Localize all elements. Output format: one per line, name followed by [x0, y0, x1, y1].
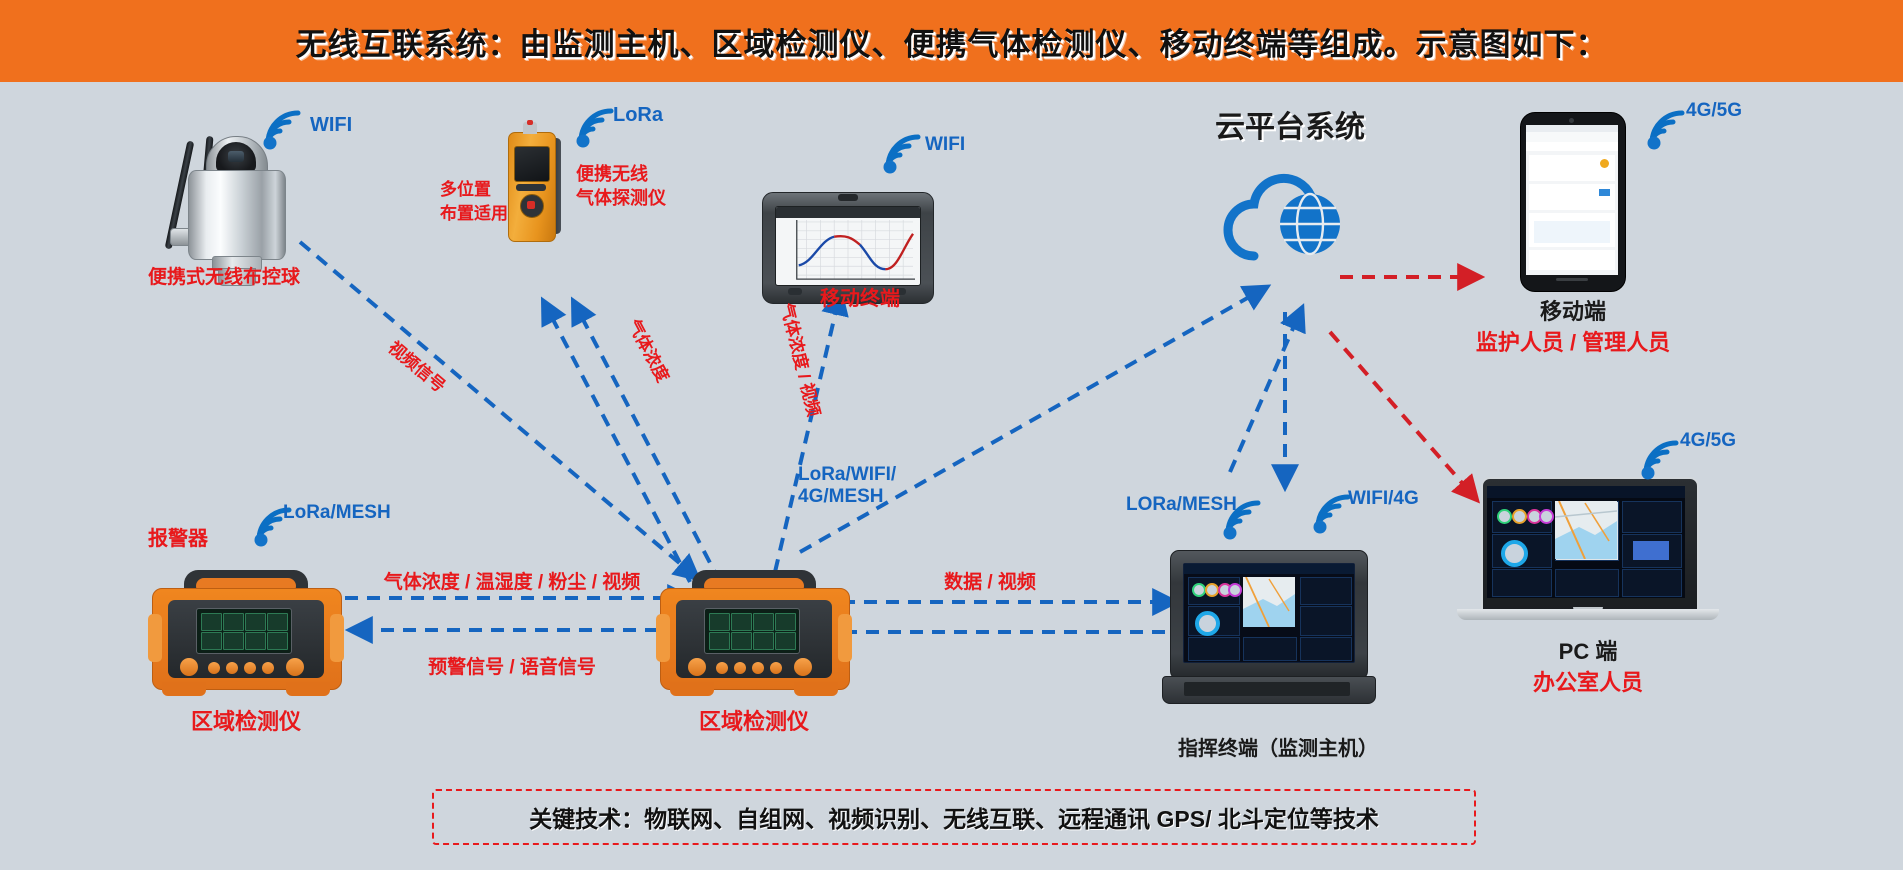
page-title: 无线互联系统：由监测主机、区域检测仪、便携气体检测仪、移动终端等组成。示意图如下… — [296, 19, 1608, 64]
globe-icon — [1280, 194, 1340, 254]
ct-donut-chart — [1195, 611, 1220, 636]
display-cell — [709, 632, 730, 650]
display-cell — [223, 613, 244, 631]
detector-button[interactable] — [244, 662, 256, 674]
pc-donut-chart — [1501, 540, 1528, 567]
display-cell — [201, 613, 222, 631]
detector-button[interactable] — [752, 662, 764, 674]
phone-screen — [1526, 125, 1618, 275]
command-terminal-signal-left: LORa/MESH — [1126, 494, 1237, 516]
wifi-signal-icon — [1646, 110, 1690, 150]
detector-display — [704, 608, 800, 654]
phone-chart-area — [1534, 221, 1610, 243]
detector-bumper-right — [330, 614, 344, 662]
gas-detector-note-line1: 多位置 — [440, 175, 491, 200]
device-area-detector-center[interactable] — [660, 570, 848, 700]
pc-signal-label: 4G/5G — [1680, 430, 1736, 452]
detector-button[interactable] — [262, 662, 274, 674]
phone-signal-label: 4G/5G — [1686, 100, 1742, 122]
ct-panel-right — [1300, 577, 1352, 605]
phone-name-label: 移动端 — [1540, 294, 1606, 326]
tablet-screen — [775, 206, 921, 286]
detector-foot-left — [162, 682, 206, 696]
detector-display — [196, 608, 292, 654]
ball-signal-label: WIFI — [310, 114, 352, 137]
detector-button[interactable] — [734, 662, 746, 674]
phone-toolbar — [1526, 142, 1618, 151]
alarm-signal-label: LoRa/MESH — [283, 502, 391, 524]
phone-badge-orange — [1600, 159, 1609, 168]
ct-panel-bottom-left — [1188, 637, 1240, 661]
link-label-tablet-protocols-line1: LoRa/WIFI/ — [798, 464, 896, 486]
detector-foot-left — [670, 682, 714, 696]
phone-badge-blue — [1599, 189, 1610, 196]
detector-foot-right — [286, 682, 330, 696]
phone-users-label: 监护人员 / 管理人员 — [1476, 325, 1670, 357]
pc-gauge-4 — [1539, 509, 1554, 524]
phone-status-bar — [1526, 125, 1618, 132]
detector-knob[interactable] — [794, 658, 812, 676]
link-label-center-to-command: 数据 / 视频 — [944, 567, 1036, 594]
gas-detector-note-line2: 布置适用 — [440, 199, 508, 224]
area-detector-center-name-label: 区域检测仪 — [699, 704, 809, 736]
detector-button[interactable] — [226, 662, 238, 674]
phone-camera-icon — [1569, 118, 1574, 123]
ct-panel-bottom-right — [1300, 637, 1352, 661]
detector-bumper-left — [148, 614, 162, 662]
phone-list-card — [1529, 250, 1615, 270]
display-cell — [731, 613, 752, 631]
detector-bumper-right — [838, 614, 852, 662]
link-label-left-to-center-top: 气体浓度 / 温湿度 / 粉尘 / 视频 — [384, 567, 641, 594]
gas-detector-name-line1: 便携无线 — [576, 160, 648, 186]
pc-panel-bottom-right — [1622, 569, 1682, 597]
detector-dpad-center[interactable] — [527, 201, 535, 209]
link-label-tablet-protocols-line2: 4G/MESH — [798, 486, 884, 508]
detector-knob[interactable] — [180, 658, 198, 676]
display-cell — [223, 632, 244, 650]
link-label-center-to-left-bottom: 预警信号 / 语音信号 — [428, 652, 596, 679]
tablet-status-bar — [776, 207, 920, 218]
pc-panel-bottom-mid — [1555, 569, 1619, 597]
display-cell — [245, 632, 266, 650]
detector-button-bar[interactable] — [516, 184, 546, 191]
pc-base — [1457, 609, 1719, 620]
ct-gauge-4 — [1228, 583, 1242, 597]
gas-detector-name-line2: 气体探测仪 — [576, 184, 666, 210]
wifi-signal-icon — [882, 134, 926, 174]
key-technology-box: 关键技术：物联网、自组网、视频识别、无线互联、远程通讯 GPS/ 北斗定位等技术 — [432, 789, 1476, 845]
detector-button[interactable] — [208, 662, 220, 674]
display-cell — [267, 632, 288, 650]
display-cell — [201, 632, 222, 650]
display-cell — [245, 613, 266, 631]
pc-users-label: 办公室人员 — [1533, 665, 1643, 697]
tablet-grip-left — [788, 288, 802, 295]
pc-name-label: PC 端 — [1559, 634, 1618, 666]
detector-bumper-left — [656, 614, 670, 662]
detector-knob[interactable] — [688, 658, 706, 676]
ct-panel-right-mid — [1300, 606, 1352, 636]
ct-map-panel — [1243, 577, 1295, 627]
pc-gauge-2 — [1512, 509, 1527, 524]
pc-panel-bottom-left — [1492, 569, 1552, 597]
ct-header — [1184, 564, 1354, 574]
command-terminal-keyboard[interactable] — [1184, 682, 1350, 696]
phone-app-header — [1526, 132, 1618, 142]
tablet-signal-label: WIFI — [925, 134, 965, 156]
command-terminal-signal-right: WIFI/4G — [1348, 488, 1419, 510]
ct-panel-bottom-mid — [1243, 637, 1297, 661]
area-detector-left-name-label: 区域检测仪 — [191, 704, 301, 736]
detector-knob[interactable] — [286, 658, 304, 676]
pc-video-tile — [1633, 541, 1669, 560]
wifi-signal-icon — [262, 110, 306, 150]
detector-button[interactable] — [770, 662, 782, 674]
key-technology-text: 关键技术：物联网、自组网、视频识别、无线互联、远程通讯 GPS/ 北斗定位等技术 — [529, 800, 1379, 834]
device-pc-laptop[interactable] — [1481, 477, 1695, 623]
pc-screen — [1487, 486, 1685, 598]
camera-lens-glass — [228, 151, 244, 162]
indicator-led-icon — [527, 120, 533, 125]
detector-screen — [514, 146, 550, 182]
ball-body — [188, 170, 286, 260]
detector-foot-right — [794, 682, 838, 696]
ball-name-label: 便携式无线布控球 — [148, 262, 300, 289]
ct-gauge-1 — [1192, 583, 1206, 597]
display-cell — [267, 613, 288, 631]
diagram-canvas: WIFI 便携式无线布控球 LoRa 多位置 布置适用 便携无线 气体探测仪 — [0, 82, 1903, 870]
display-cell — [775, 613, 796, 631]
gas-detector-signal-label: LoRa — [613, 104, 663, 127]
display-cell — [775, 632, 796, 650]
display-cell — [753, 632, 774, 650]
device-mobile-phone[interactable] — [1520, 112, 1626, 292]
device-area-detector-left[interactable] — [152, 570, 340, 700]
cloud-platform-title: 云平台系统 — [1215, 102, 1365, 146]
pc-dashboard-header — [1487, 486, 1685, 498]
device-command-terminal[interactable] — [1170, 550, 1382, 710]
display-cell — [709, 613, 730, 631]
detector-button[interactable] — [716, 662, 728, 674]
phone-home-indicator — [1556, 278, 1588, 281]
wifi-signal-icon — [1640, 440, 1684, 480]
phone-card-2 — [1529, 184, 1615, 210]
display-cell — [731, 632, 752, 650]
command-terminal-name-label: 指挥终端（监测主机） — [1178, 732, 1378, 761]
command-terminal-screen — [1183, 563, 1355, 663]
alarm-name-label: 报警器 — [148, 522, 208, 551]
tablet-camera-icon — [838, 194, 858, 201]
pc-gauge-1 — [1497, 509, 1512, 524]
device-portable-gas-detector[interactable] — [508, 120, 564, 246]
pc-panel-right-top — [1622, 501, 1682, 533]
tablet-name-label: 移动终端 — [820, 282, 900, 311]
ct-gauge-2 — [1205, 583, 1219, 597]
display-cell — [753, 613, 774, 631]
page-header: 无线互联系统：由监测主机、区域检测仪、便携气体检测仪、移动终端等组成。示意图如下… — [0, 0, 1903, 82]
cloud-platform-icon[interactable] — [1218, 160, 1368, 268]
